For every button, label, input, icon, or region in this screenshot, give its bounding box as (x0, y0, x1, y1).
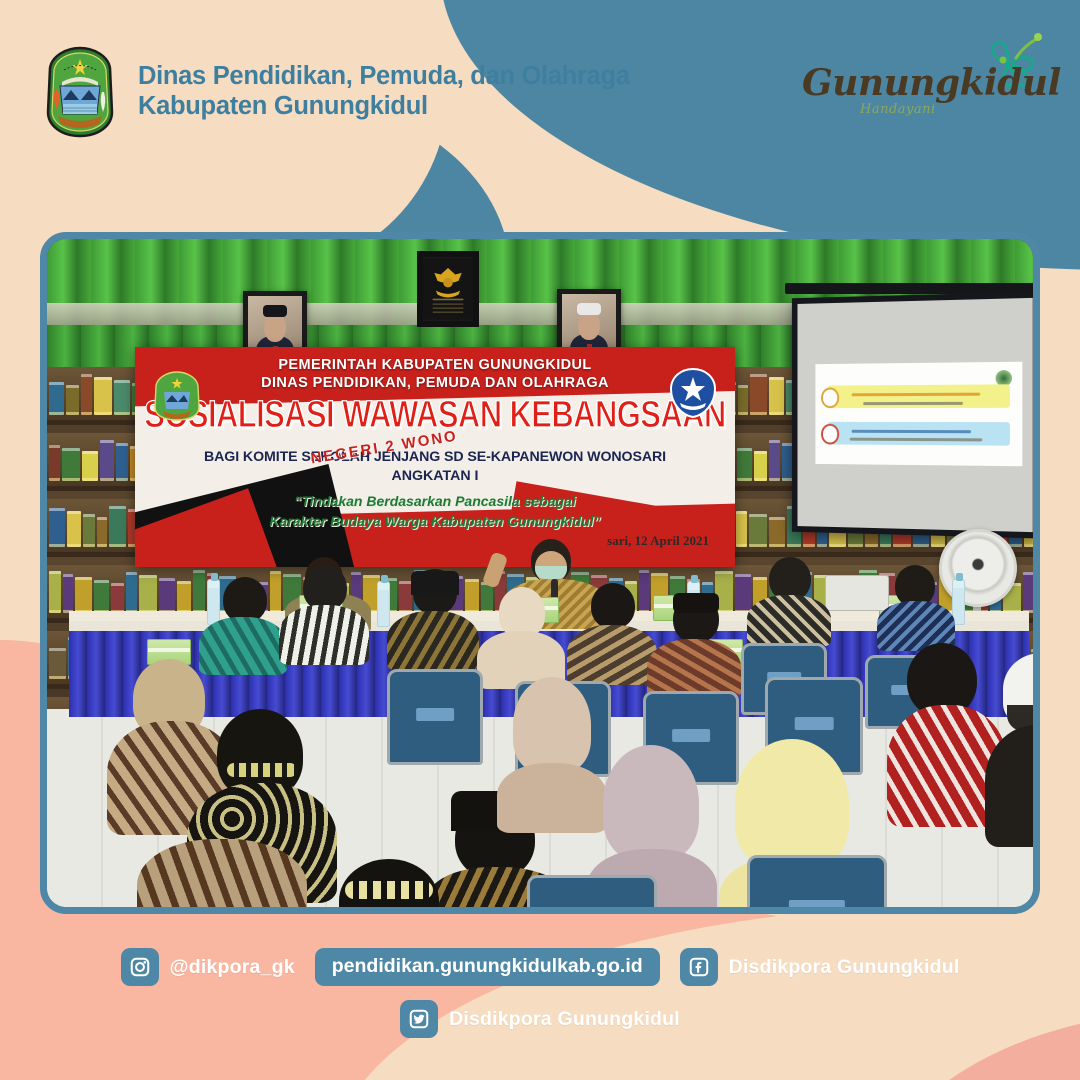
banner-quote-line2: Karakter Budaya Warga Kabupaten Gunungki… (135, 513, 735, 529)
audience-member (647, 595, 741, 695)
garuda-pancasila-icon (417, 251, 479, 327)
gunungkidul-brand-logo: Gunungkidul Handayani (798, 36, 1038, 126)
banner-date: sari, 12 April 2021 (607, 533, 709, 549)
audience-member (279, 565, 369, 663)
website-link[interactable]: pendidikan.gunungkidulkab.go.id (315, 948, 660, 986)
gunungkidul-regency-crest-icon (44, 46, 116, 138)
poster-canvas: Dinas Pendidikan, Pemuda, dan Olahraga K… (0, 0, 1080, 1080)
banner-subtitle2: ANGKATAN I (135, 468, 735, 484)
banner-tut-wuri-handayani-icon (667, 367, 719, 419)
audience-member (387, 569, 479, 669)
projector-rod (785, 283, 1033, 294)
audience-member (747, 557, 831, 643)
org-title-line2: Kabupaten Gunungkidul (138, 92, 630, 122)
banner-line1: PEMERINTAH KABUPATEN GUNUNGKIDUL (135, 357, 735, 373)
banner-quote-line1: “Tindakan Berdasarkan Pancasila sebagai (135, 493, 735, 509)
audience-member (567, 583, 657, 681)
audience-member (985, 653, 1033, 843)
projector-screen (792, 292, 1033, 539)
brand-tagline: Handayani (860, 102, 936, 117)
banner-gunungkidul-crest-icon (153, 371, 201, 421)
poster-header: Dinas Pendidikan, Pemuda, dan Olahraga K… (44, 46, 630, 138)
facebook-label: Disdikpora Gunungkidul (729, 956, 960, 979)
twitter-label: Disdikpora Gunungkidul (449, 1008, 680, 1031)
facebook-link[interactable]: Disdikpora Gunungkidul (680, 948, 960, 986)
audience-member (309, 859, 479, 907)
brand-name: Gunungkidul (802, 62, 1061, 104)
audience-member (477, 587, 565, 683)
event-banner: NEGERI 2 WONO PEMERINTAH KABUPATEN GUNUN… (135, 347, 735, 567)
banner-line2: DINAS PENDIDIKAN, PEMUDA DAN OLAHRAGA (135, 375, 735, 391)
social-footer: @dikpora_gk pendidikan.gunungkidulkab.go… (0, 948, 1080, 1038)
audience-member (877, 565, 955, 647)
instagram-link[interactable]: @dikpora_gk (121, 948, 295, 986)
org-title-line1: Dinas Pendidikan, Pemuda, dan Olahraga (138, 62, 630, 92)
twitter-link[interactable]: Disdikpora Gunungkidul (400, 1000, 680, 1038)
page-title: Dinas Pendidikan, Pemuda, dan Olahraga K… (138, 62, 630, 121)
twitter-icon (400, 1000, 438, 1038)
banner-subtitle1: BAGI KOMITE SEKOLAH JENJANG SD SE-KAPANE… (135, 449, 735, 465)
facebook-icon (680, 948, 718, 986)
event-photo: NEGERI 2 WONO PEMERINTAH KABUPATEN GUNUN… (40, 232, 1040, 914)
instagram-label: @dikpora_gk (170, 956, 295, 979)
instagram-icon (121, 948, 159, 986)
audience-member (137, 839, 307, 907)
